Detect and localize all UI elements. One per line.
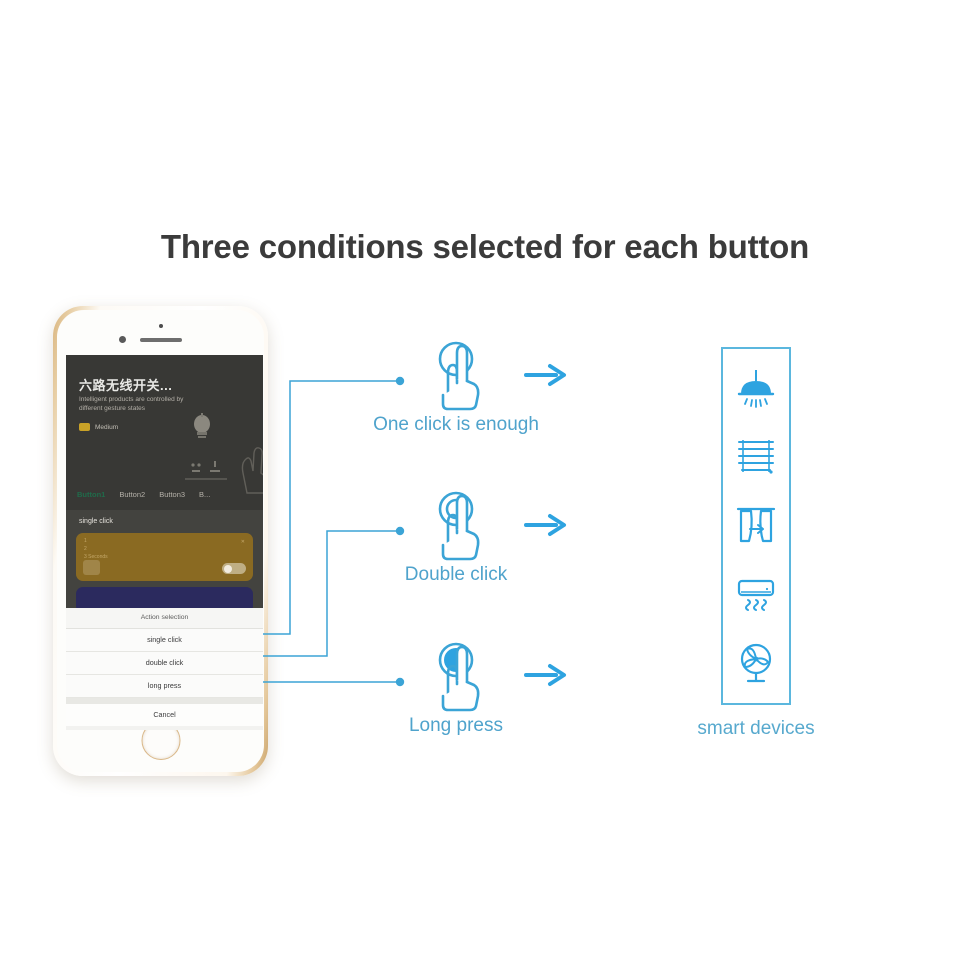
scene-card-amber[interactable]: 1 2 3 Seconds ✕ <box>76 533 253 581</box>
device-item-air-conditioner[interactable] <box>729 566 783 622</box>
phone-mockup: 六路无线开关... Intelligent products are contr… <box>53 306 268 776</box>
phone-screen: 六路无线开关... Intelligent products are contr… <box>66 355 263 730</box>
app-list-area: single click 1 2 3 Seconds ✕ <box>66 510 263 608</box>
window-blinds-icon <box>734 437 778 479</box>
app-hero-title: 六路无线开关... <box>79 375 172 394</box>
arrow-right-icon-2 <box>524 510 568 540</box>
action-sheet: Action selection single click double cli… <box>66 608 263 730</box>
device-item-fan[interactable] <box>729 635 783 691</box>
arrow-right-icon-3 <box>524 660 568 690</box>
device-item-blinds[interactable] <box>729 430 783 486</box>
device-item-light[interactable] <box>729 361 783 417</box>
phone-body: 六路无线开关... Intelligent products are contr… <box>53 306 268 776</box>
fan-icon <box>734 641 778 685</box>
app-hero-subtitle: Intelligent products are controlled by d… <box>79 395 187 413</box>
scene-card-thumbnail <box>83 560 100 575</box>
smart-devices-caption: smart devices <box>660 718 852 740</box>
gesture-long-press-label: Long press <box>331 715 581 737</box>
app-tab-bar[interactable]: Button1 Button2 Button3 B... <box>66 483 263 505</box>
air-conditioner-icon <box>734 573 778 615</box>
scene-card-line-2: 2 <box>84 546 87 552</box>
action-option-single-click[interactable]: single click <box>66 629 263 652</box>
tab-button2[interactable]: Button2 <box>119 490 145 499</box>
tab-button3[interactable]: Button3 <box>159 490 185 499</box>
arrow-right-icon-1 <box>524 360 568 390</box>
app-badge: Medium <box>79 423 118 431</box>
curtain-icon <box>734 505 778 547</box>
lamp-illustration-icon <box>189 413 215 443</box>
scene-card-line-1: 1 <box>84 538 87 544</box>
badge-swatch-icon <box>79 423 90 431</box>
infographic-canvas: Three conditions selected for each butto… <box>0 0 970 970</box>
earpiece-speaker-icon <box>140 338 182 342</box>
gesture-double-click-label: Double click <box>331 564 581 586</box>
socket-illustration-icon <box>183 459 229 485</box>
app-list-label: single click <box>79 518 113 525</box>
pendant-lamp-icon <box>734 368 778 410</box>
app-badge-label: Medium <box>95 424 118 431</box>
device-item-curtain[interactable] <box>729 498 783 554</box>
action-option-double-click[interactable]: double click <box>66 652 263 675</box>
action-sheet-header: Action selection <box>66 608 263 629</box>
smart-devices-panel <box>721 347 791 705</box>
gesture-one-click-label: One click is enough <box>331 414 581 436</box>
front-camera-icon <box>119 336 126 343</box>
action-option-long-press[interactable]: long press <box>66 675 263 698</box>
tab-button-more[interactable]: B... <box>199 490 210 499</box>
page-title: Three conditions selected for each butto… <box>0 228 970 266</box>
scene-card-close-icon[interactable]: ✕ <box>241 539 245 545</box>
phone-bezel: 六路无线开关... Intelligent products are contr… <box>57 310 264 772</box>
action-sheet-cancel-button[interactable]: Cancel <box>66 704 263 726</box>
scene-card-toggle[interactable] <box>222 563 246 574</box>
proximity-sensor-icon <box>159 324 163 328</box>
tab-button1[interactable]: Button1 <box>77 490 105 499</box>
